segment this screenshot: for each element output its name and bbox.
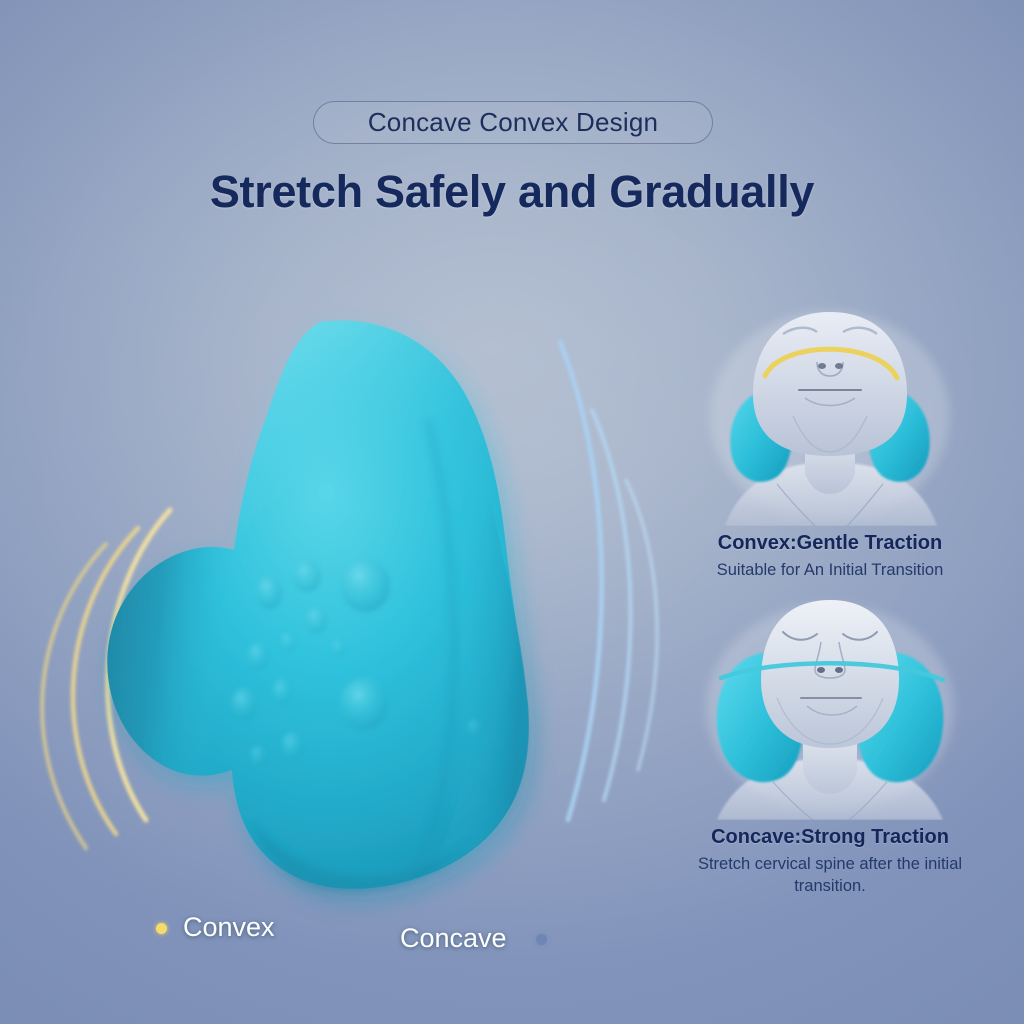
concave-marker-dot [536,934,547,945]
convex-marker-dot [156,923,167,934]
panel-concave-strong: Concave:Strong Traction Stretch cervical… [665,592,995,898]
figure-head-front-view-concave [665,592,995,820]
product-infographic: Concave Convex Design Stretch Safely and… [0,0,1024,1024]
panel-subtitle-convex: Suitable for An Initial Transition [665,560,995,582]
right-wave-arcs [560,342,657,820]
product-illustration: Convex Concave [20,300,680,940]
figure-head-top-view-convex [665,298,995,526]
design-badge: Concave Convex Design [313,101,713,144]
design-badge-label: Concave Convex Design [368,107,658,138]
page-title: Stretch Safely and Gradually [0,166,1024,218]
panel-convex-gentle: Convex:Gentle Traction Suitable for An I… [665,298,995,582]
convex-hotspot-label: Convex [183,912,275,943]
panel-subtitle-concave: Stretch cervical spine after the initial… [665,854,995,898]
panel-title-convex: Convex:Gentle Traction [665,532,995,555]
panel-title-concave: Concave:Strong Traction [665,826,995,849]
pillow-svg [20,300,680,940]
concave-hotspot-label: Concave [400,923,507,954]
